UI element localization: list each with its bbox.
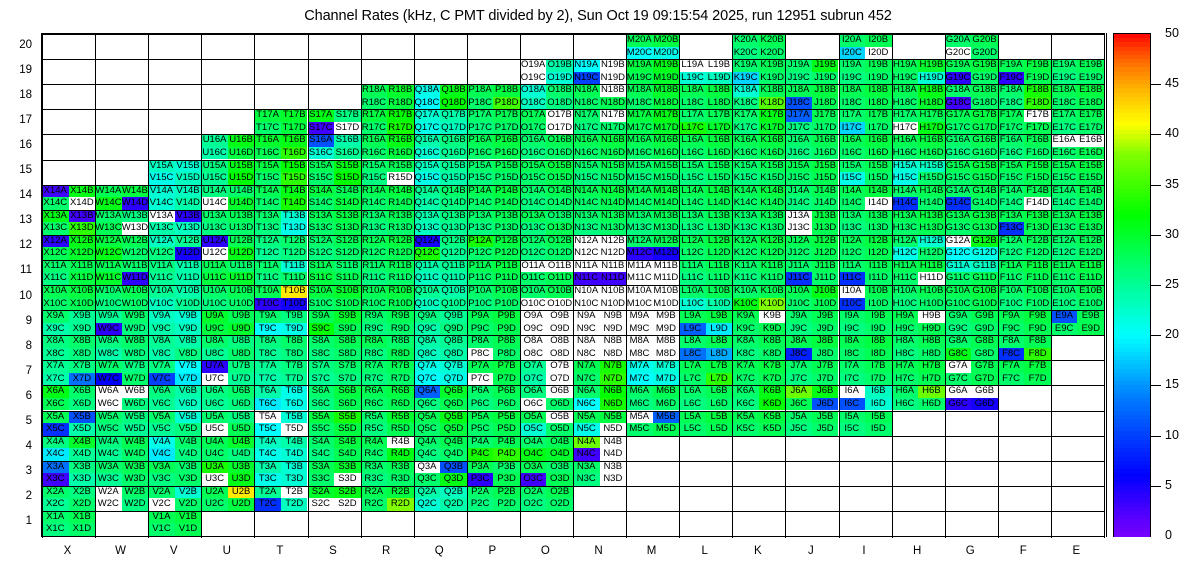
channel-cell[interactable]: Q3B [440,461,467,474]
channel-cell[interactable]: U8B [228,335,255,348]
channel-cell[interactable]: G6A [945,385,972,398]
channel-cell[interactable]: I7C [839,373,866,386]
channel-cell[interactable]: N11A [573,260,600,273]
channel-cell[interactable]: O10A [520,285,547,298]
channel-cell[interactable]: J7B [812,360,839,373]
channel-cell[interactable]: G10B [971,285,998,298]
channel-cell[interactable]: P2A [467,486,494,499]
channel-cell[interactable]: K9B [759,310,786,323]
channel-cell[interactable]: N18A [573,84,600,97]
channel-cell[interactable]: O17C [520,122,547,135]
channel-cell[interactable]: N19B [600,59,627,72]
channel-cell[interactable]: Q4A [414,436,441,449]
channel-cell[interactable]: H8C [892,348,919,361]
channel-cell[interactable]: T5A [254,411,281,424]
channel-cell[interactable]: T10B [281,285,308,298]
channel-cell[interactable]: Q7B [440,360,467,373]
channel-cell[interactable]: J12A [785,235,812,248]
channel-cell[interactable]: U2A [201,486,228,499]
channel-cell[interactable]: G7A [945,360,972,373]
channel-cell[interactable]: S10A [308,285,335,298]
channel-cell[interactable]: P13B [493,210,520,223]
channel-cell[interactable]: L5B [706,411,733,424]
channel-cell[interactable]: U4C [201,448,228,461]
channel-cell[interactable]: R16A [361,134,388,147]
channel-cell[interactable]: L17A [679,109,706,122]
channel-cell[interactable]: V3C [148,473,175,486]
channel-cell[interactable]: P13C [467,222,494,235]
channel-cell[interactable]: O18D [546,97,573,110]
channel-cell[interactable]: H11B [918,260,945,273]
channel-cell[interactable]: I15C [839,172,866,185]
channel-cell[interactable]: N9A [573,310,600,323]
channel-cell[interactable]: V4D [175,448,202,461]
channel-cell[interactable]: S12A [308,235,335,248]
channel-cell[interactable]: I7D [865,373,892,386]
channel-cell[interactable]: N15D [600,172,627,185]
channel-cell[interactable]: N10C [573,298,600,311]
channel-cell[interactable]: Q12D [440,247,467,260]
channel-cell[interactable]: W12A [95,235,122,248]
channel-cell[interactable]: L16C [679,147,706,160]
channel-cell[interactable]: T4C [254,448,281,461]
channel-cell[interactable]: V3A [148,461,175,474]
channel-cell[interactable]: T16D [281,147,308,160]
channel-cell[interactable]: Q17B [440,109,467,122]
channel-cell[interactable]: N13C [573,222,600,235]
channel-cell[interactable]: U15A [201,160,228,173]
channel-cell[interactable]: O11B [546,260,573,273]
channel-cell[interactable]: M15A [626,160,653,173]
channel-cell[interactable]: R3D [387,473,414,486]
channel-cell[interactable]: N13D [600,222,627,235]
channel-cell[interactable]: S4D [334,448,361,461]
channel-cell[interactable]: V5C [148,423,175,436]
channel-cell[interactable]: R6A [361,385,388,398]
channel-cell[interactable]: X12C [42,247,69,260]
channel-cell[interactable]: H19C [892,72,919,85]
channel-cell[interactable]: V4C [148,448,175,461]
channel-cell[interactable]: O18B [546,84,573,97]
channel-cell[interactable]: T13B [281,210,308,223]
channel-cell[interactable]: G9D [971,323,998,336]
channel-cell[interactable]: V10A [148,285,175,298]
channel-cell[interactable]: K20D [759,47,786,60]
channel-cell[interactable]: W11C [95,272,122,285]
channel-cell[interactable]: M6A [626,385,653,398]
channel-cell[interactable]: X8B [69,335,96,348]
channel-cell[interactable]: O12B [546,235,573,248]
channel-cell[interactable]: E14A [1051,185,1078,198]
channel-cell[interactable]: W14B [122,185,149,198]
channel-cell[interactable]: F19C [998,72,1025,85]
channel-cell[interactable]: J6C [785,398,812,411]
channel-cell[interactable]: M5C [626,423,653,436]
channel-cell[interactable]: V9C [148,323,175,336]
channel-cell[interactable]: I10D [865,298,892,311]
channel-cell[interactable]: F14D [1024,197,1051,210]
channel-cell[interactable]: O19D [546,72,573,85]
channel-cell[interactable]: S13D [334,222,361,235]
channel-cell[interactable]: R13C [361,222,388,235]
channel-cell[interactable]: Q13C [414,222,441,235]
channel-cell[interactable]: O6C [520,398,547,411]
channel-cell[interactable]: E18C [1051,97,1078,110]
channel-cell[interactable]: O6D [546,398,573,411]
channel-cell[interactable]: E11C [1051,272,1078,285]
channel-cell[interactable]: S6C [308,398,335,411]
channel-cell[interactable]: X12B [69,235,96,248]
channel-cell[interactable]: P13D [493,222,520,235]
channel-cell[interactable]: W6C [95,398,122,411]
channel-cell[interactable]: P11B [493,260,520,273]
channel-cell[interactable]: S13C [308,222,335,235]
channel-cell[interactable]: T9D [281,323,308,336]
channel-cell[interactable]: S9B [334,310,361,323]
channel-cell[interactable]: M9C [626,323,653,336]
channel-cell[interactable]: S4A [308,436,335,449]
channel-cell[interactable]: O4A [520,436,547,449]
channel-cell[interactable]: G17C [945,122,972,135]
channel-cell[interactable]: V1B [175,511,202,524]
channel-cell[interactable]: U3A [201,461,228,474]
channel-cell[interactable]: H7D [918,373,945,386]
channel-cell[interactable]: O15C [520,172,547,185]
channel-cell[interactable]: R9C [361,323,388,336]
channel-cell[interactable]: E12B [1077,235,1104,248]
channel-cell[interactable]: N19D [600,72,627,85]
channel-cell[interactable]: O16C [520,147,547,160]
channel-cell[interactable]: O11A [520,260,547,273]
channel-cell[interactable]: P6B [493,385,520,398]
channel-cell[interactable]: R18C [361,97,388,110]
channel-cell[interactable]: L14D [706,197,733,210]
channel-cell[interactable]: Q10C [414,298,441,311]
channel-cell[interactable]: F7B [1024,360,1051,373]
channel-cell[interactable]: V14D [175,197,202,210]
channel-cell[interactable]: H17D [918,122,945,135]
channel-cell[interactable]: N10B [600,285,627,298]
channel-cell[interactable]: N9C [573,323,600,336]
channel-cell[interactable]: M15B [653,160,680,173]
channel-cell[interactable]: X9D [69,323,96,336]
channel-cell[interactable]: S14A [308,185,335,198]
channel-cell[interactable]: G17B [971,109,998,122]
channel-cell[interactable]: X7B [69,360,96,373]
channel-cell[interactable]: O9B [546,310,573,323]
channel-cell[interactable]: I13C [839,222,866,235]
channel-cell[interactable]: I12D [865,247,892,260]
channel-cell[interactable]: Q9B [440,310,467,323]
channel-cell[interactable]: K10B [759,285,786,298]
channel-cell[interactable]: R12A [361,235,388,248]
channel-cell[interactable]: L12B [706,235,733,248]
channel-cell[interactable]: X13D [69,222,96,235]
channel-cell[interactable]: K20C [732,47,759,60]
channel-cell[interactable]: Q9A [414,310,441,323]
channel-cell[interactable]: R10C [361,298,388,311]
channel-cell[interactable]: N13B [600,210,627,223]
channel-cell[interactable]: X11A [42,260,69,273]
channel-cell[interactable]: F10C [998,298,1025,311]
channel-cell[interactable]: X12D [69,247,96,260]
channel-cell[interactable]: X11D [69,272,96,285]
channel-cell[interactable]: M6D [653,398,680,411]
channel-cell[interactable]: M20B [653,34,680,47]
channel-cell[interactable]: R15A [361,160,388,173]
channel-cell[interactable]: U3C [201,473,228,486]
channel-cell[interactable]: E10B [1077,285,1104,298]
channel-cell[interactable]: K6A [732,385,759,398]
channel-cell[interactable]: R9B [387,310,414,323]
channel-cell[interactable]: J8C [785,348,812,361]
channel-cell[interactable]: M17A [626,109,653,122]
channel-cell[interactable]: P4B [493,436,520,449]
channel-cell[interactable]: U12D [228,247,255,260]
channel-cell[interactable]: Q17D [440,122,467,135]
channel-cell[interactable]: N17A [573,109,600,122]
channel-cell[interactable]: U4B [228,436,255,449]
channel-cell[interactable]: U6D [228,398,255,411]
channel-cell[interactable]: H6A [892,385,919,398]
channel-cell[interactable]: P8A [467,335,494,348]
channel-cell[interactable]: S14D [334,197,361,210]
channel-cell[interactable]: L9C [679,323,706,336]
channel-cell[interactable]: R2D [387,498,414,511]
channel-cell[interactable]: I16C [839,147,866,160]
channel-cell[interactable]: Q2D [440,498,467,511]
channel-cell[interactable]: H17B [918,109,945,122]
channel-cell[interactable]: P2D [493,498,520,511]
channel-cell[interactable]: L11A [679,260,706,273]
channel-cell[interactable]: X9B [69,310,96,323]
channel-cell[interactable]: L18C [679,97,706,110]
channel-cell[interactable]: O5C [520,423,547,436]
channel-cell[interactable]: K20B [759,34,786,47]
channel-cell[interactable]: I14C [839,197,866,210]
channel-cell[interactable]: V2C [148,498,175,511]
channel-cell[interactable]: X3B [69,461,96,474]
channel-cell[interactable]: G14A [945,185,972,198]
channel-cell[interactable]: M8A [626,335,653,348]
channel-cell[interactable]: L10D [706,298,733,311]
channel-cell[interactable]: H14B [918,185,945,198]
channel-cell[interactable]: F16B [1024,134,1051,147]
channel-cell[interactable]: G19B [971,59,998,72]
channel-cell[interactable]: L6B [706,385,733,398]
channel-cell[interactable]: Q18C [414,97,441,110]
channel-cell[interactable]: Q18B [440,84,467,97]
channel-cell[interactable]: M10A [626,285,653,298]
channel-cell[interactable]: R10D [387,298,414,311]
channel-cell[interactable]: G19D [971,72,998,85]
channel-cell[interactable]: K15A [732,160,759,173]
channel-cell[interactable]: E12A [1051,235,1078,248]
channel-cell[interactable]: T9A [254,310,281,323]
channel-cell[interactable]: Q3C [414,473,441,486]
channel-cell[interactable]: S11C [308,272,335,285]
channel-cell[interactable]: O2D [546,498,573,511]
channel-cell[interactable]: N12B [600,235,627,248]
channel-cell[interactable]: Q7A [414,360,441,373]
channel-cell[interactable]: L9D [706,323,733,336]
channel-cell[interactable]: T7B [281,360,308,373]
channel-cell[interactable]: L7B [706,360,733,373]
channel-cell[interactable]: E16B [1077,134,1104,147]
channel-cell[interactable]: K11A [732,260,759,273]
channel-cell[interactable]: E16D [1077,147,1104,160]
channel-cell[interactable]: Q14C [414,197,441,210]
channel-cell[interactable]: Q10B [440,285,467,298]
channel-cell[interactable]: S12C [308,247,335,260]
channel-cell[interactable]: E14C [1051,197,1078,210]
channel-cell[interactable]: J16C [785,147,812,160]
channel-cell[interactable]: N13A [573,210,600,223]
channel-cell[interactable]: I10B [865,285,892,298]
channel-cell[interactable]: P5A [467,411,494,424]
channel-cell[interactable]: K11C [732,272,759,285]
channel-cell[interactable]: K7C [732,373,759,386]
channel-cell[interactable]: O8C [520,348,547,361]
channel-cell[interactable]: G14B [971,185,998,198]
channel-cell[interactable]: V3B [175,461,202,474]
channel-cell[interactable]: N4A [573,436,600,449]
channel-cell[interactable]: V15C [148,172,175,185]
channel-cell[interactable]: U10A [201,285,228,298]
channel-cell[interactable]: F17A [998,109,1025,122]
channel-cell[interactable]: F14C [998,197,1025,210]
channel-cell[interactable]: S13A [308,210,335,223]
channel-cell[interactable]: G9B [971,310,998,323]
channel-cell[interactable]: F14A [998,185,1025,198]
channel-cell[interactable]: S8D [334,348,361,361]
channel-cell[interactable]: N11C [573,272,600,285]
channel-cell[interactable]: F12A [998,235,1025,248]
channel-cell[interactable]: H10C [892,298,919,311]
channel-cell[interactable]: L15B [706,160,733,173]
channel-cell[interactable]: Q10D [440,298,467,311]
channel-cell[interactable]: P9B [493,310,520,323]
channel-cell[interactable]: L18B [706,84,733,97]
channel-cell[interactable]: M18C [626,97,653,110]
channel-cell[interactable]: T17C [254,122,281,135]
channel-cell[interactable]: V13D [175,222,202,235]
channel-cell[interactable]: X2A [42,486,69,499]
channel-cell[interactable]: H16B [918,134,945,147]
channel-cell[interactable]: J14D [812,197,839,210]
channel-cell[interactable]: R6B [387,385,414,398]
channel-cell[interactable]: X7D [69,373,96,386]
channel-cell[interactable]: Q2A [414,486,441,499]
channel-cell[interactable]: N4C [573,448,600,461]
channel-cell[interactable]: M8D [653,348,680,361]
channel-cell[interactable]: V14A [148,185,175,198]
channel-cell[interactable]: W12C [95,247,122,260]
channel-cell[interactable]: E13D [1077,222,1104,235]
channel-cell[interactable]: I19B [865,59,892,72]
channel-cell[interactable]: K20A [732,34,759,47]
channel-cell[interactable]: R18B [387,84,414,97]
channel-cell[interactable]: S4C [308,448,335,461]
channel-cell[interactable]: M9D [653,323,680,336]
channel-cell[interactable]: R9A [361,310,388,323]
channel-cell[interactable]: U14C [201,197,228,210]
channel-cell[interactable]: P8B [493,335,520,348]
channel-cell[interactable]: J15C [785,172,812,185]
channel-cell[interactable]: H7A [892,360,919,373]
channel-cell[interactable]: I14A [839,185,866,198]
channel-cell[interactable]: J18B [812,84,839,97]
channel-cell[interactable]: I16A [839,134,866,147]
channel-cell[interactable]: G18B [971,84,998,97]
channel-cell[interactable]: L17B [706,109,733,122]
channel-cell[interactable]: V4B [175,436,202,449]
channel-cell[interactable]: I5C [839,423,866,436]
channel-cell[interactable]: J5B [812,411,839,424]
channel-cell[interactable]: K9D [759,323,786,336]
channel-cell[interactable]: W4D [122,448,149,461]
channel-cell[interactable]: H8B [918,335,945,348]
channel-cell[interactable]: X8A [42,335,69,348]
channel-cell[interactable]: R14C [361,197,388,210]
channel-cell[interactable]: Q11C [414,272,441,285]
channel-cell[interactable]: M6B [653,385,680,398]
channel-cell[interactable]: O7D [546,373,573,386]
channel-cell[interactable]: K19C [732,72,759,85]
channel-cell[interactable]: J18C [785,97,812,110]
channel-cell[interactable]: N6A [573,385,600,398]
channel-cell[interactable]: O17B [546,109,573,122]
channel-cell[interactable]: H10A [892,285,919,298]
channel-cell[interactable]: Q16B [440,134,467,147]
channel-cell[interactable]: F13D [1024,222,1051,235]
channel-cell[interactable]: Q11A [414,260,441,273]
channel-cell[interactable]: N8D [600,348,627,361]
channel-cell[interactable]: O13C [520,222,547,235]
channel-cell[interactable]: O16A [520,134,547,147]
channel-cell[interactable]: U9A [201,310,228,323]
channel-cell[interactable]: P2C [467,498,494,511]
channel-cell[interactable]: G13C [945,222,972,235]
channel-cell[interactable]: W8D [122,348,149,361]
channel-cell[interactable]: L6C [679,398,706,411]
channel-cell[interactable]: W3B [122,461,149,474]
channel-cell[interactable]: L13D [706,222,733,235]
channel-cell[interactable]: M15C [626,172,653,185]
channel-cell[interactable]: M8C [626,348,653,361]
channel-cell[interactable]: J19A [785,59,812,72]
channel-cell[interactable]: T2B [281,486,308,499]
channel-cell[interactable]: L19D [706,72,733,85]
channel-cell[interactable]: S3A [308,461,335,474]
channel-cell[interactable]: U7A [201,360,228,373]
channel-cell[interactable]: E17A [1051,109,1078,122]
channel-cell[interactable]: M7C [626,373,653,386]
channel-cell[interactable]: F19A [998,59,1025,72]
channel-cell[interactable]: R17A [361,109,388,122]
channel-cell[interactable]: Q12C [414,247,441,260]
channel-cell[interactable]: E15D [1077,172,1104,185]
channel-cell[interactable]: L8B [706,335,733,348]
channel-cell[interactable]: P5B [493,411,520,424]
channel-cell[interactable]: V12B [175,235,202,248]
channel-cell[interactable]: L14B [706,185,733,198]
channel-cell[interactable]: I13B [865,210,892,223]
channel-cell[interactable]: N14D [600,197,627,210]
channel-cell[interactable]: N8B [600,335,627,348]
channel-cell[interactable]: F13A [998,210,1025,223]
channel-cell[interactable]: X6B [69,385,96,398]
